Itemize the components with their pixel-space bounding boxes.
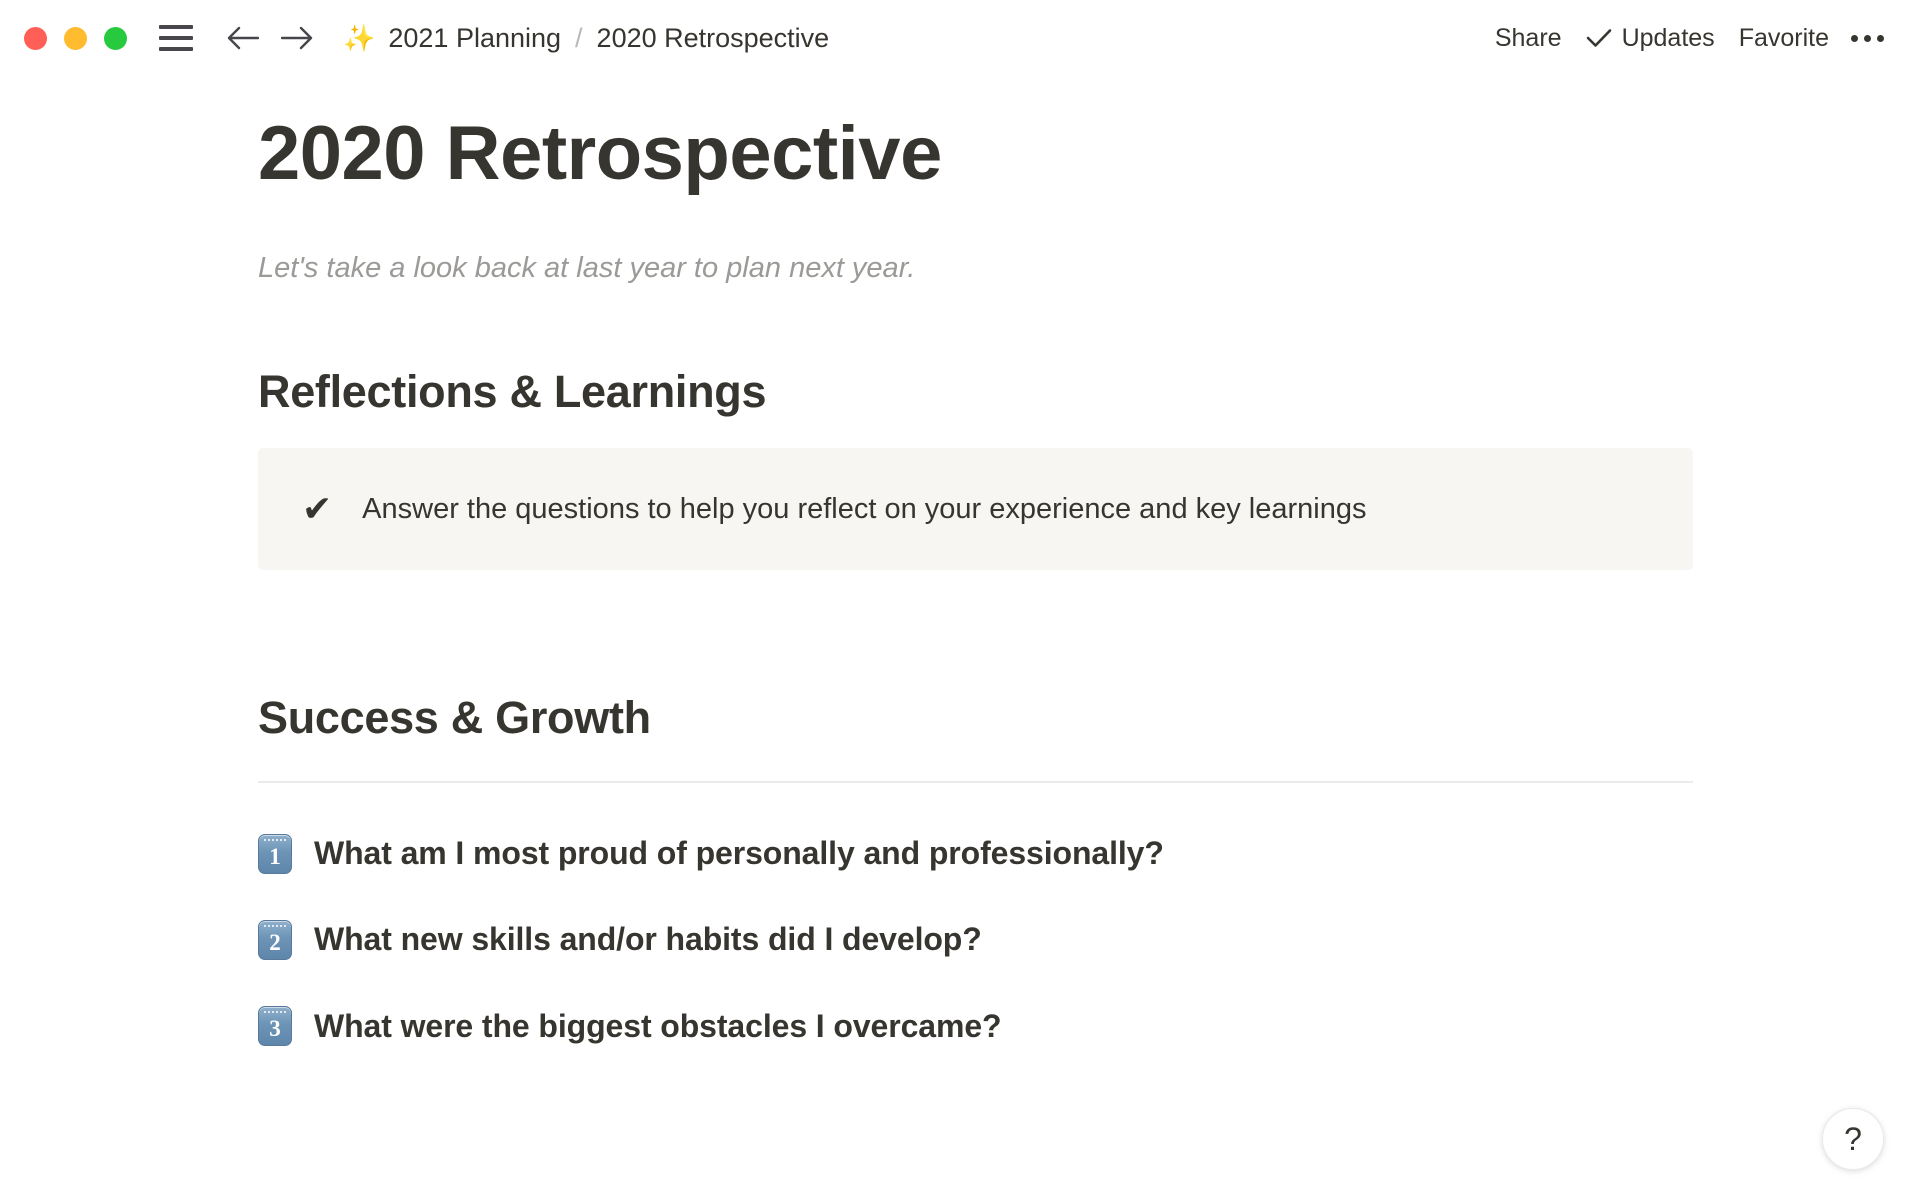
keycap-three-icon: 3: [258, 1006, 292, 1046]
help-button[interactable]: ?: [1822, 1108, 1884, 1170]
sparkles-icon: ✨: [343, 25, 375, 51]
ellipsis-dot: [1864, 35, 1871, 42]
hamburger-menu-icon[interactable]: [159, 25, 193, 51]
top-bar-actions: Share Updates Favorite: [1483, 0, 1894, 76]
breadcrumb: ✨ 2021 Planning / 2020 Retrospective: [343, 23, 829, 54]
hamburger-line: [159, 36, 193, 40]
window-close-button[interactable]: [24, 27, 47, 50]
page-title[interactable]: 2020 Retrospective: [258, 112, 1920, 196]
ellipsis-dot: [1851, 35, 1858, 42]
ellipsis-icon[interactable]: [1841, 29, 1894, 48]
callout-text: Answer the questions to help you reflect…: [362, 488, 1366, 530]
keycap-number: 1: [269, 845, 281, 868]
callout-block[interactable]: ✔ Answer the questions to help you refle…: [258, 448, 1693, 570]
page-content: 2020 Retrospective Let's take a look bac…: [0, 76, 1920, 1082]
share-button[interactable]: Share: [1483, 18, 1574, 59]
breadcrumb-parent[interactable]: 2021 Planning: [388, 23, 561, 54]
question-text: What were the biggest obstacles I overca…: [314, 1005, 1001, 1048]
list-item[interactable]: 3 What were the biggest obstacles I over…: [258, 996, 1920, 1057]
list-item[interactable]: 1 What am I most proud of personally and…: [258, 823, 1920, 884]
heading-reflections-and-learnings[interactable]: Reflections & Learnings: [258, 366, 1920, 418]
app-window: ✨ 2021 Planning / 2020 Retrospective Sha…: [0, 0, 1920, 1200]
navigation-arrows: [225, 21, 315, 55]
favorite-button[interactable]: Favorite: [1727, 18, 1841, 59]
check-icon: [1586, 27, 1612, 49]
checkmark-icon: ✔: [302, 491, 332, 527]
ellipsis-dot: [1877, 35, 1884, 42]
list-item[interactable]: 2 What new skills and/or habits did I de…: [258, 909, 1920, 970]
heading-success-and-growth[interactable]: Success & Growth: [258, 692, 1920, 744]
window-controls: [24, 27, 127, 50]
question-text: What new skills and/or habits did I deve…: [314, 918, 982, 961]
keycap-number: 2: [269, 931, 281, 954]
window-minimize-button[interactable]: [64, 27, 87, 50]
favorite-label: Favorite: [1739, 24, 1829, 53]
keycap-number: 3: [269, 1017, 281, 1040]
breadcrumb-current[interactable]: 2020 Retrospective: [597, 23, 830, 54]
breadcrumb-separator: /: [575, 23, 583, 54]
arrow-right-icon[interactable]: [281, 21, 315, 55]
hamburger-line: [159, 47, 193, 51]
question-text: What am I most proud of personally and p…: [314, 832, 1164, 875]
hamburger-line: [159, 25, 193, 29]
page-subtitle[interactable]: Let's take a look back at last year to p…: [258, 248, 1920, 289]
questions-list: 1 What am I most proud of personally and…: [0, 823, 1920, 1057]
question-mark-icon: ?: [1844, 1123, 1862, 1155]
top-bar: ✨ 2021 Planning / 2020 Retrospective Sha…: [0, 0, 1920, 76]
window-maximize-button[interactable]: [104, 27, 127, 50]
arrow-left-icon[interactable]: [225, 21, 259, 55]
updates-label: Updates: [1622, 24, 1715, 53]
updates-button[interactable]: Updates: [1574, 18, 1727, 59]
keycap-one-icon: 1: [258, 834, 292, 874]
share-label: Share: [1495, 24, 1562, 53]
keycap-two-icon: 2: [258, 920, 292, 960]
section-divider: [258, 781, 1693, 783]
